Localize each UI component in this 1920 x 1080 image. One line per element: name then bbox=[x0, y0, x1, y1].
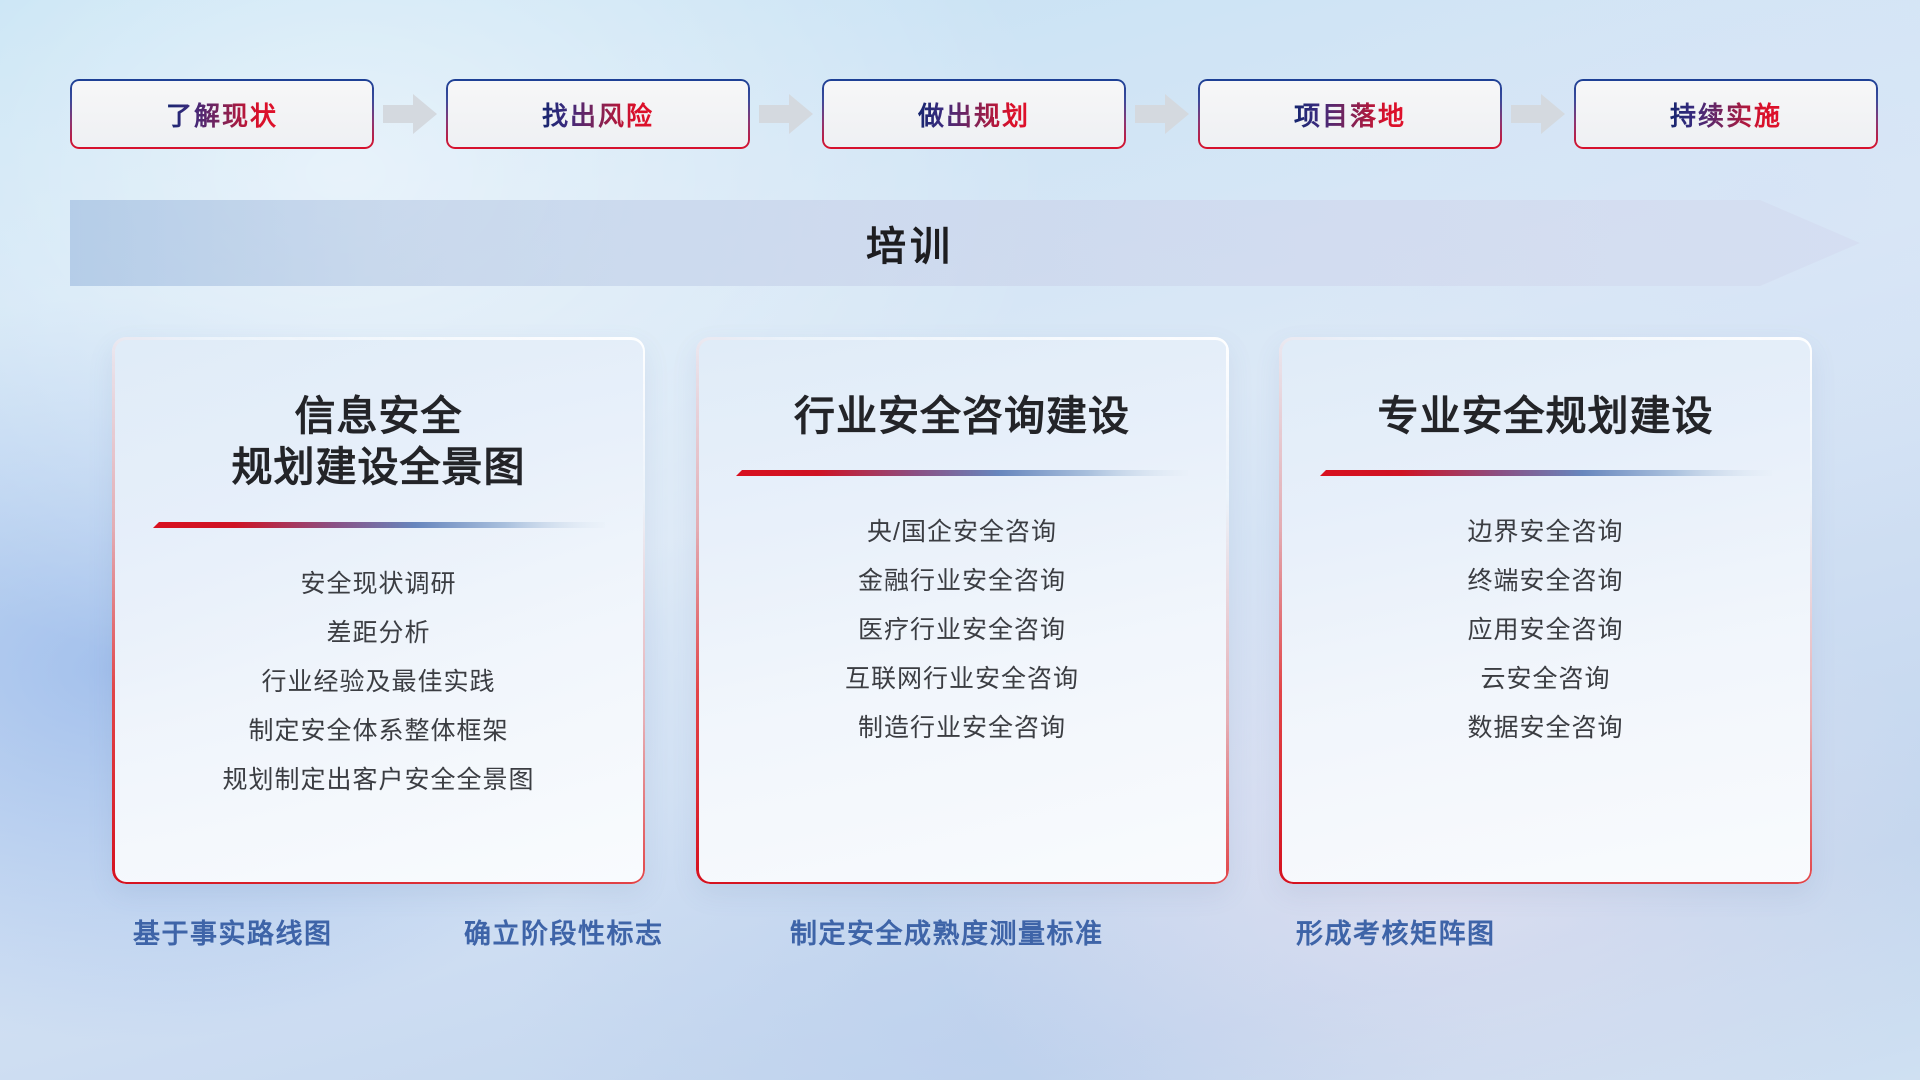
gradient-underline-icon bbox=[736, 468, 1188, 478]
process-step-3[interactable]: 项目落地 bbox=[1198, 79, 1502, 149]
step-arrow-icon-1 bbox=[759, 94, 813, 134]
banner-title: 培训 bbox=[70, 200, 1750, 286]
process-step-2[interactable]: 做出规划 bbox=[822, 79, 1126, 149]
process-step-label: 做出规划 bbox=[918, 96, 1030, 133]
footer-label-row: 基于事实路线图 确立阶段性标志 制定安全成熟度测量标准 形成考核矩阵图 bbox=[0, 912, 1920, 960]
card-title: 行业安全咨询建设 bbox=[794, 391, 1130, 442]
card-list-item: 央/国企安全咨询 bbox=[726, 508, 1199, 557]
card-industry-security-consulting[interactable]: 行业安全咨询建设 bbox=[696, 337, 1229, 884]
card-list-item: 制造行业安全咨询 bbox=[726, 704, 1199, 753]
card-list-item: 边界安全咨询 bbox=[1309, 508, 1782, 557]
step-arrow-icon-0 bbox=[383, 94, 437, 134]
process-step-label: 了解现状 bbox=[166, 96, 278, 133]
card-list-item: 数据安全咨询 bbox=[1309, 704, 1782, 753]
card-list-item: 应用安全咨询 bbox=[1309, 606, 1782, 655]
footer-label-milestones: 确立阶段性标志 bbox=[464, 912, 664, 951]
card-list-item: 制定安全体系整体框架 bbox=[142, 707, 615, 756]
card-information-security-blueprint[interactable]: 信息安全 规划建设全景图 bbox=[112, 337, 645, 884]
card-list-item: 云安全咨询 bbox=[1309, 655, 1782, 704]
card-list-item: 行业经验及最佳实践 bbox=[142, 658, 615, 707]
card-list-item: 医疗行业安全咨询 bbox=[726, 606, 1199, 655]
process-step-0[interactable]: 了解现状 bbox=[70, 79, 374, 149]
step-arrow-icon-2 bbox=[1135, 94, 1189, 134]
step-arrow-icon-3 bbox=[1511, 94, 1565, 134]
process-step-row: 了解现状 找出风险 做出规划 项目落地 bbox=[70, 78, 1860, 150]
process-step-label: 找出风险 bbox=[542, 96, 654, 133]
card-list-item: 规划制定出客户安全全景图 bbox=[142, 756, 615, 805]
gradient-underline-icon bbox=[153, 520, 605, 530]
card-list-item: 互联网行业安全咨询 bbox=[726, 655, 1199, 704]
process-step-label: 项目落地 bbox=[1294, 96, 1406, 133]
gradient-underline-icon bbox=[1320, 468, 1772, 478]
card-title: 信息安全 规划建设全景图 bbox=[232, 391, 526, 494]
card-list-item: 终端安全咨询 bbox=[1309, 557, 1782, 606]
training-banner: 培训 bbox=[70, 200, 1860, 286]
card-item-list: 安全现状调研 差距分析 行业经验及最佳实践 制定安全体系整体框架 规划制定出客户… bbox=[142, 560, 615, 805]
card-list-item: 差距分析 bbox=[142, 609, 615, 658]
process-step-4[interactable]: 持续实施 bbox=[1574, 79, 1878, 149]
card-list-item: 安全现状调研 bbox=[142, 560, 615, 609]
footer-label-assessment-matrix: 形成考核矩阵图 bbox=[1296, 912, 1496, 951]
process-step-label: 持续实施 bbox=[1670, 96, 1782, 133]
card-list-item: 金融行业安全咨询 bbox=[726, 557, 1199, 606]
card-row: 信息安全 规划建设全景图 bbox=[112, 337, 1812, 884]
card-title: 专业安全规划建设 bbox=[1378, 391, 1714, 442]
card-professional-security-planning[interactable]: 专业安全规划建设 bbox=[1279, 337, 1812, 884]
infographic-canvas: 了解现状 找出风险 做出规划 项目落地 bbox=[0, 0, 1920, 1080]
process-step-1[interactable]: 找出风险 bbox=[446, 79, 750, 149]
card-item-list: 央/国企安全咨询 金融行业安全咨询 医疗行业安全咨询 互联网行业安全咨询 制造行… bbox=[726, 508, 1199, 753]
footer-label-maturity-standard: 制定安全成熟度测量标准 bbox=[790, 912, 1104, 951]
card-item-list: 边界安全咨询 终端安全咨询 应用安全咨询 云安全咨询 数据安全咨询 bbox=[1309, 508, 1782, 753]
footer-label-roadmap: 基于事实路线图 bbox=[133, 912, 333, 951]
